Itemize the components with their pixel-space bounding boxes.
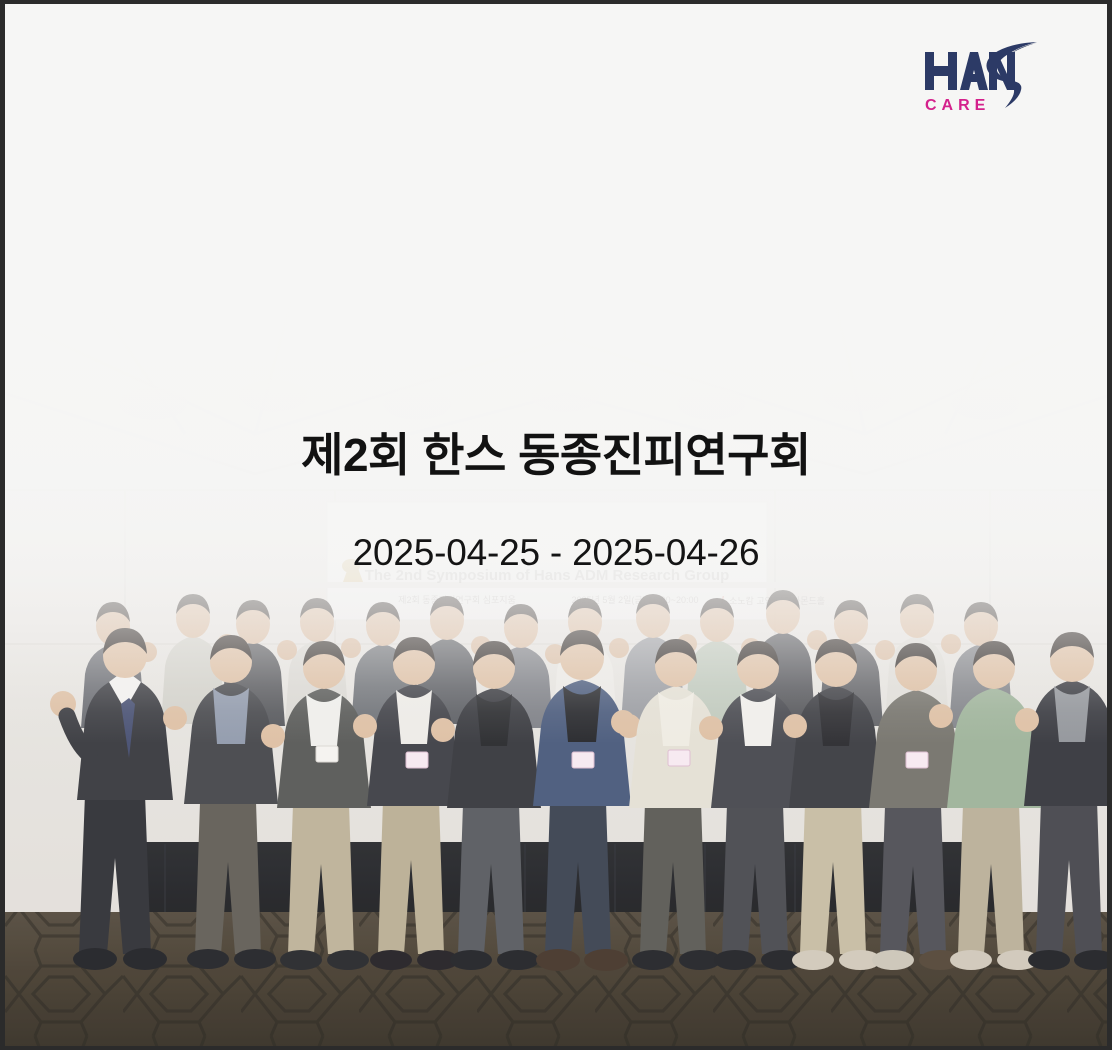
svg-text:CARE: CARE (925, 97, 990, 114)
poster-frame: The 2nd Symposium of Hans ADM Research G… (0, 0, 1112, 1050)
poster-card: The 2nd Symposium of Hans ADM Research G… (5, 4, 1107, 1046)
hans-care-logo: CARE (919, 34, 1049, 116)
care-wordmark: CARE (925, 97, 990, 114)
group-photo: The 2nd Symposium of Hans ADM Research G… (5, 4, 1107, 1046)
